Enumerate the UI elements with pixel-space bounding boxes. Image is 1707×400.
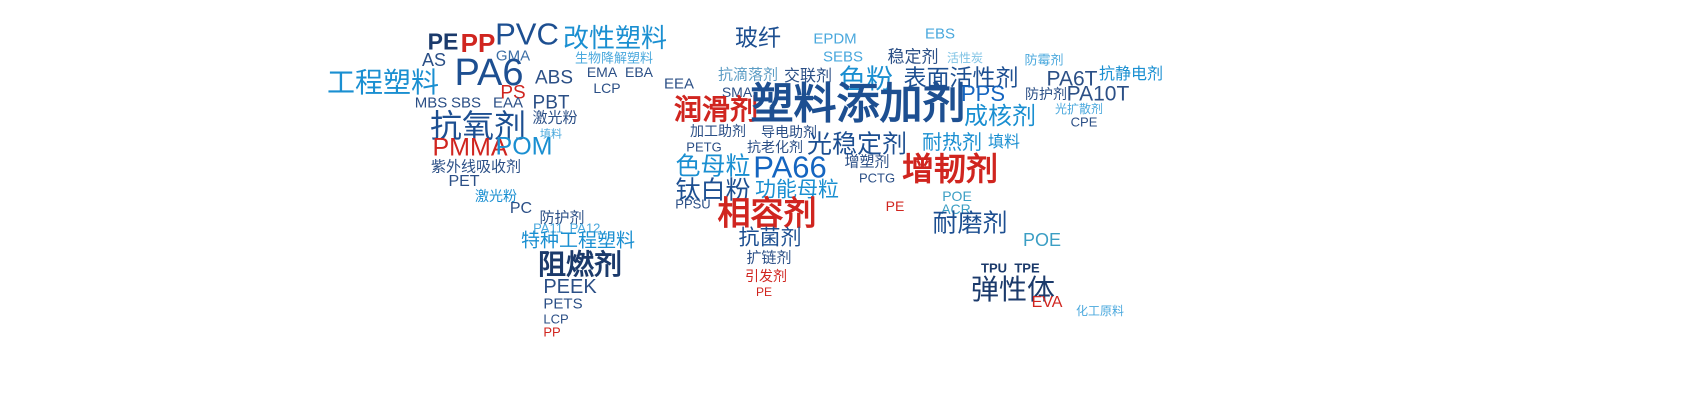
word-cloud-term[interactable]: 引发剂 [745,270,787,284]
word-cloud-term[interactable]: CPE [1071,116,1098,129]
word-cloud-term[interactable]: 增塑剂 [844,155,889,170]
word-cloud-term[interactable]: POE [1023,231,1061,249]
word-cloud-term[interactable]: EPDM [813,32,856,47]
word-cloud-term[interactable]: EEA [664,77,694,92]
word-cloud-term[interactable]: EVA [1032,295,1063,311]
word-cloud-term[interactable]: 阻燃剂 [538,251,622,279]
word-cloud-term[interactable]: 改性塑料 [563,26,667,52]
word-cloud-term[interactable]: EMA [587,65,617,79]
word-cloud-term[interactable]: 防护剂 [1025,88,1067,102]
word-cloud-term[interactable]: PEEK [543,277,596,297]
word-cloud-term[interactable]: 抗静电剂 [1099,66,1163,82]
word-cloud-term[interactable]: 玻纤 [735,28,781,51]
word-cloud-term[interactable]: PE [756,286,772,298]
word-cloud-term[interactable]: 成核剂 [964,104,1036,128]
word-cloud-term[interactable]: 光扩散剂 [1055,103,1103,115]
word-cloud-term[interactable]: 填料 [988,134,1020,150]
word-cloud-term[interactable]: POM [496,135,553,160]
word-cloud-term[interactable]: 润滑剂 [674,96,758,124]
word-cloud-term[interactable]: 防霉剂 [1024,55,1063,68]
word-cloud-term[interactable]: PC [510,201,532,217]
word-cloud-term[interactable]: ABS [535,69,573,88]
word-cloud-term[interactable]: 工程塑料 [327,69,439,97]
word-cloud-term[interactable]: 加工助剂 [690,125,746,139]
word-cloud-term[interactable]: EBS [925,27,955,42]
word-cloud-term[interactable]: PET [448,174,479,190]
word-cloud-term[interactable]: PPSU [675,198,710,211]
word-cloud-term[interactable]: 塑料添加剂 [751,84,966,127]
word-cloud-term[interactable]: 化工原料 [1076,305,1124,317]
word-cloud-term[interactable]: 增韧剂 [902,153,998,185]
word-cloud-term[interactable]: PP [543,326,560,339]
word-cloud-term[interactable]: 扩链剂 [746,251,791,266]
word-cloud-canvas: PEPPPVCGMAASPA6ABS工程塑料PSMBSSBSEAAPBT抗氧剂激… [0,0,1707,400]
word-cloud-term[interactable]: PE [886,199,905,213]
word-cloud-term[interactable]: 活性炭 [947,52,983,64]
word-cloud-term[interactable]: LCP [593,81,620,95]
word-cloud-term[interactable]: PETS [543,297,582,312]
word-cloud-term[interactable]: 抗菌剂 [739,228,802,249]
word-cloud-term[interactable]: 激光粉 [532,111,577,126]
word-cloud-term[interactable]: EBA [625,65,653,79]
word-cloud-term[interactable]: 耐热剂 [922,132,982,152]
word-cloud-term[interactable]: PVC [495,19,559,50]
word-cloud-term[interactable]: 稳定剂 [888,50,939,67]
word-cloud-term[interactable]: PCTG [859,172,895,185]
word-cloud-term[interactable]: SEBS [823,50,863,65]
word-cloud-term[interactable]: 耐磨剂 [932,211,1007,236]
